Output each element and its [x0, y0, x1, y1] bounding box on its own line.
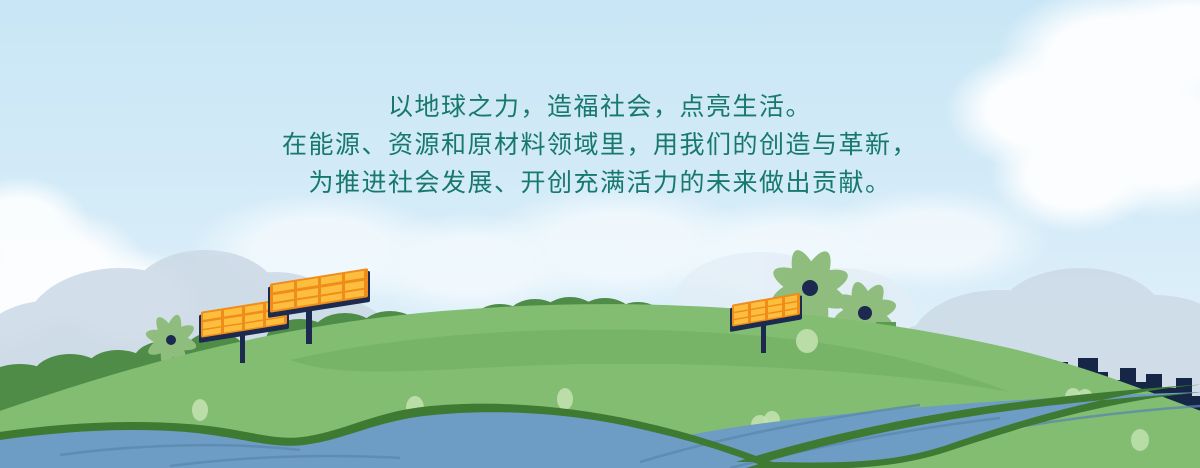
scene-illustration	[0, 0, 1200, 468]
eco-energy-banner: 以地球之力，造福社会，点亮生活。 在能源、资源和原材料领域里，用我们的创造与革新…	[0, 0, 1200, 468]
